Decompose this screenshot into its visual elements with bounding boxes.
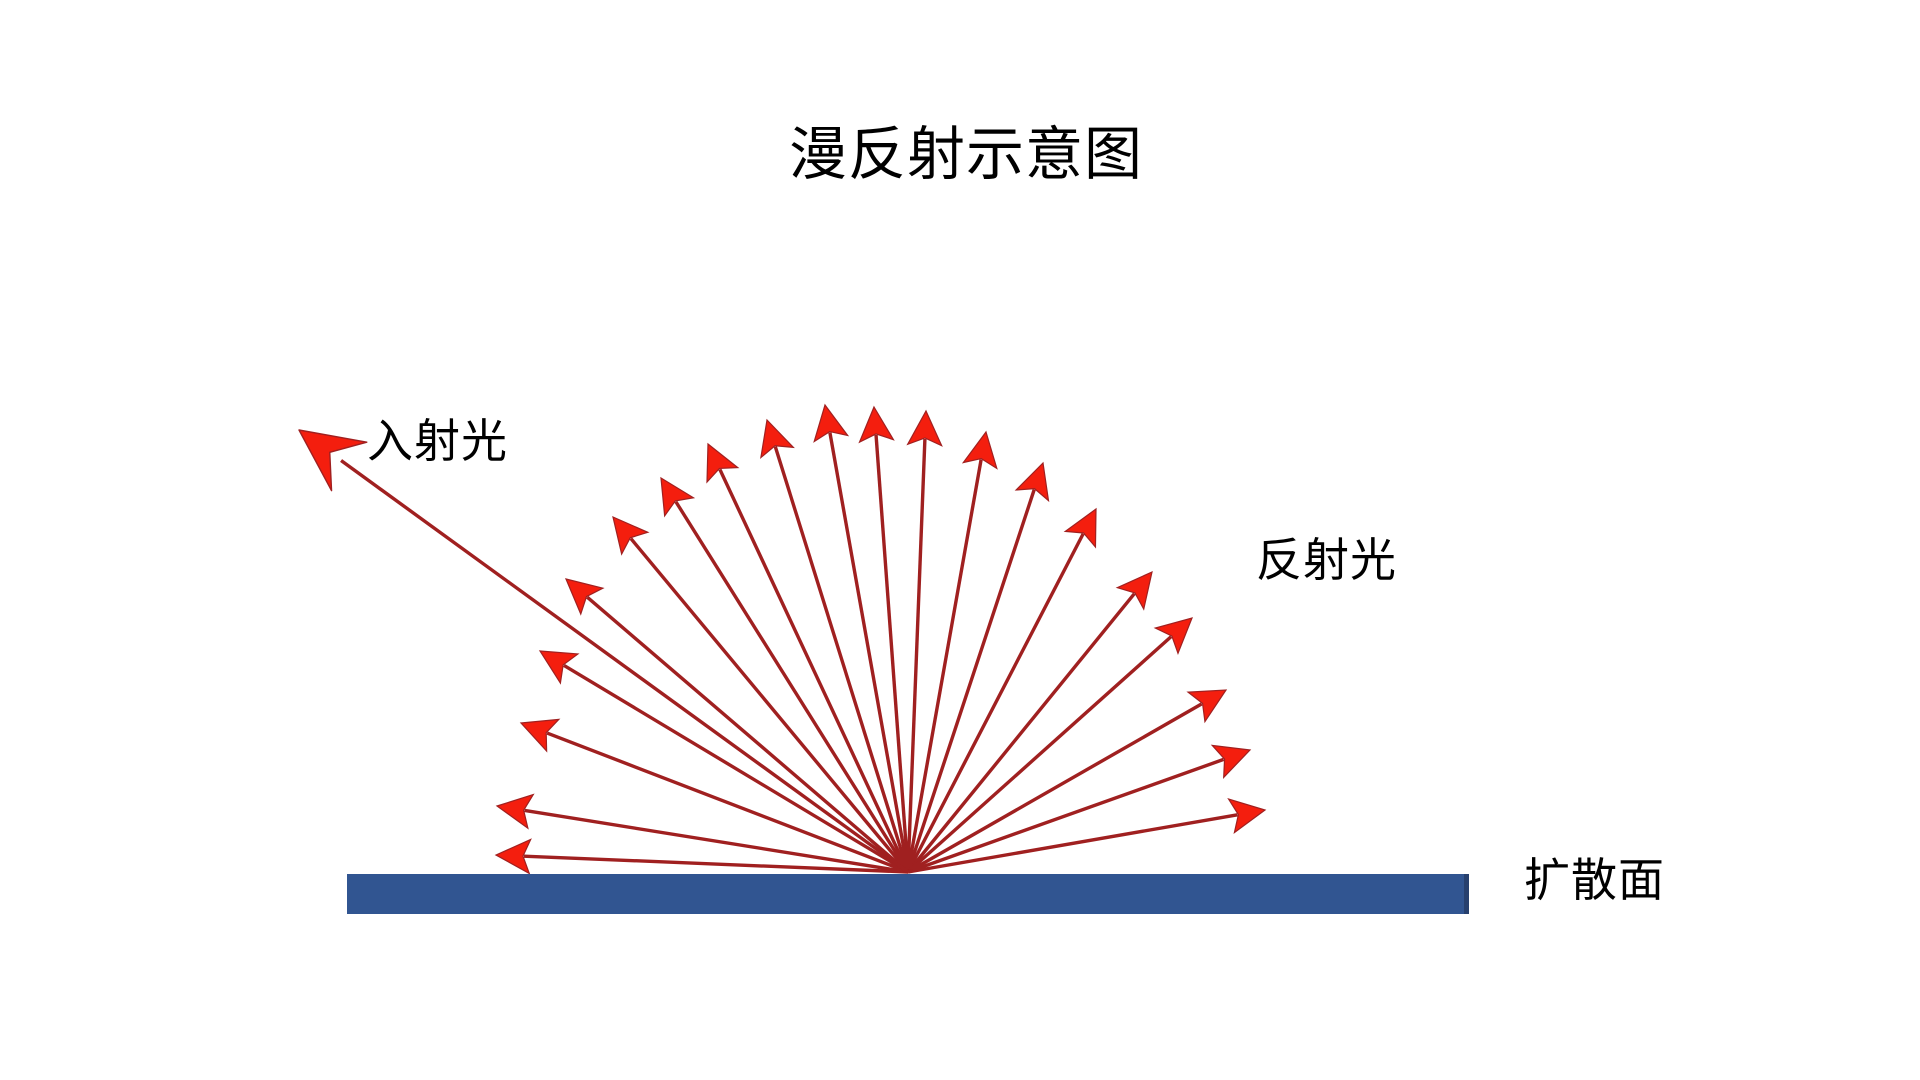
reflected-ray [540, 651, 908, 872]
reflected-rays-group [496, 405, 1265, 873]
triangle-arrow-icon [661, 478, 693, 516]
reflected-ray-shaft [908, 460, 981, 872]
reflected-ray-shaft [564, 665, 908, 872]
triangle-arrow-icon [1188, 690, 1226, 722]
incident-light-label: 入射光 [367, 418, 508, 464]
reflected-ray-shaft [676, 502, 908, 872]
reflected-ray [761, 420, 908, 872]
incident-ray [299, 430, 908, 872]
reflected-ray [908, 411, 942, 872]
diffusing-surface [347, 874, 1469, 914]
diffusing-surface-label: 扩散面 [1524, 857, 1665, 903]
reflected-ray [496, 839, 908, 873]
reflected-ray-shaft [631, 539, 908, 872]
triangle-arrow-icon [613, 517, 648, 554]
surface-bar [347, 874, 1469, 914]
triangle-arrow-icon [566, 579, 603, 614]
reflected-ray-shaft [775, 447, 908, 872]
reflected-light-label: 反射光 [1256, 537, 1397, 583]
reflected-ray [613, 517, 908, 872]
reflected-ray [521, 719, 908, 872]
reflected-ray [661, 478, 908, 872]
page-title: 漫反射示意图 [789, 126, 1143, 184]
triangle-arrow-icon [1117, 572, 1152, 609]
diagram-canvas: 漫反射示意图 入射光 反射光 扩散面 [0, 0, 1920, 1080]
swallowtail-arrow-icon [299, 430, 367, 491]
reflected-ray-shaft [908, 439, 925, 872]
reflected-ray-shaft [876, 435, 908, 872]
reflected-ray-shaft [587, 597, 908, 872]
surface-bar-right-edge [1464, 874, 1469, 914]
reflected-ray-shaft [830, 433, 908, 872]
reflected-ray [566, 579, 908, 872]
triangle-arrow-icon [540, 651, 578, 683]
